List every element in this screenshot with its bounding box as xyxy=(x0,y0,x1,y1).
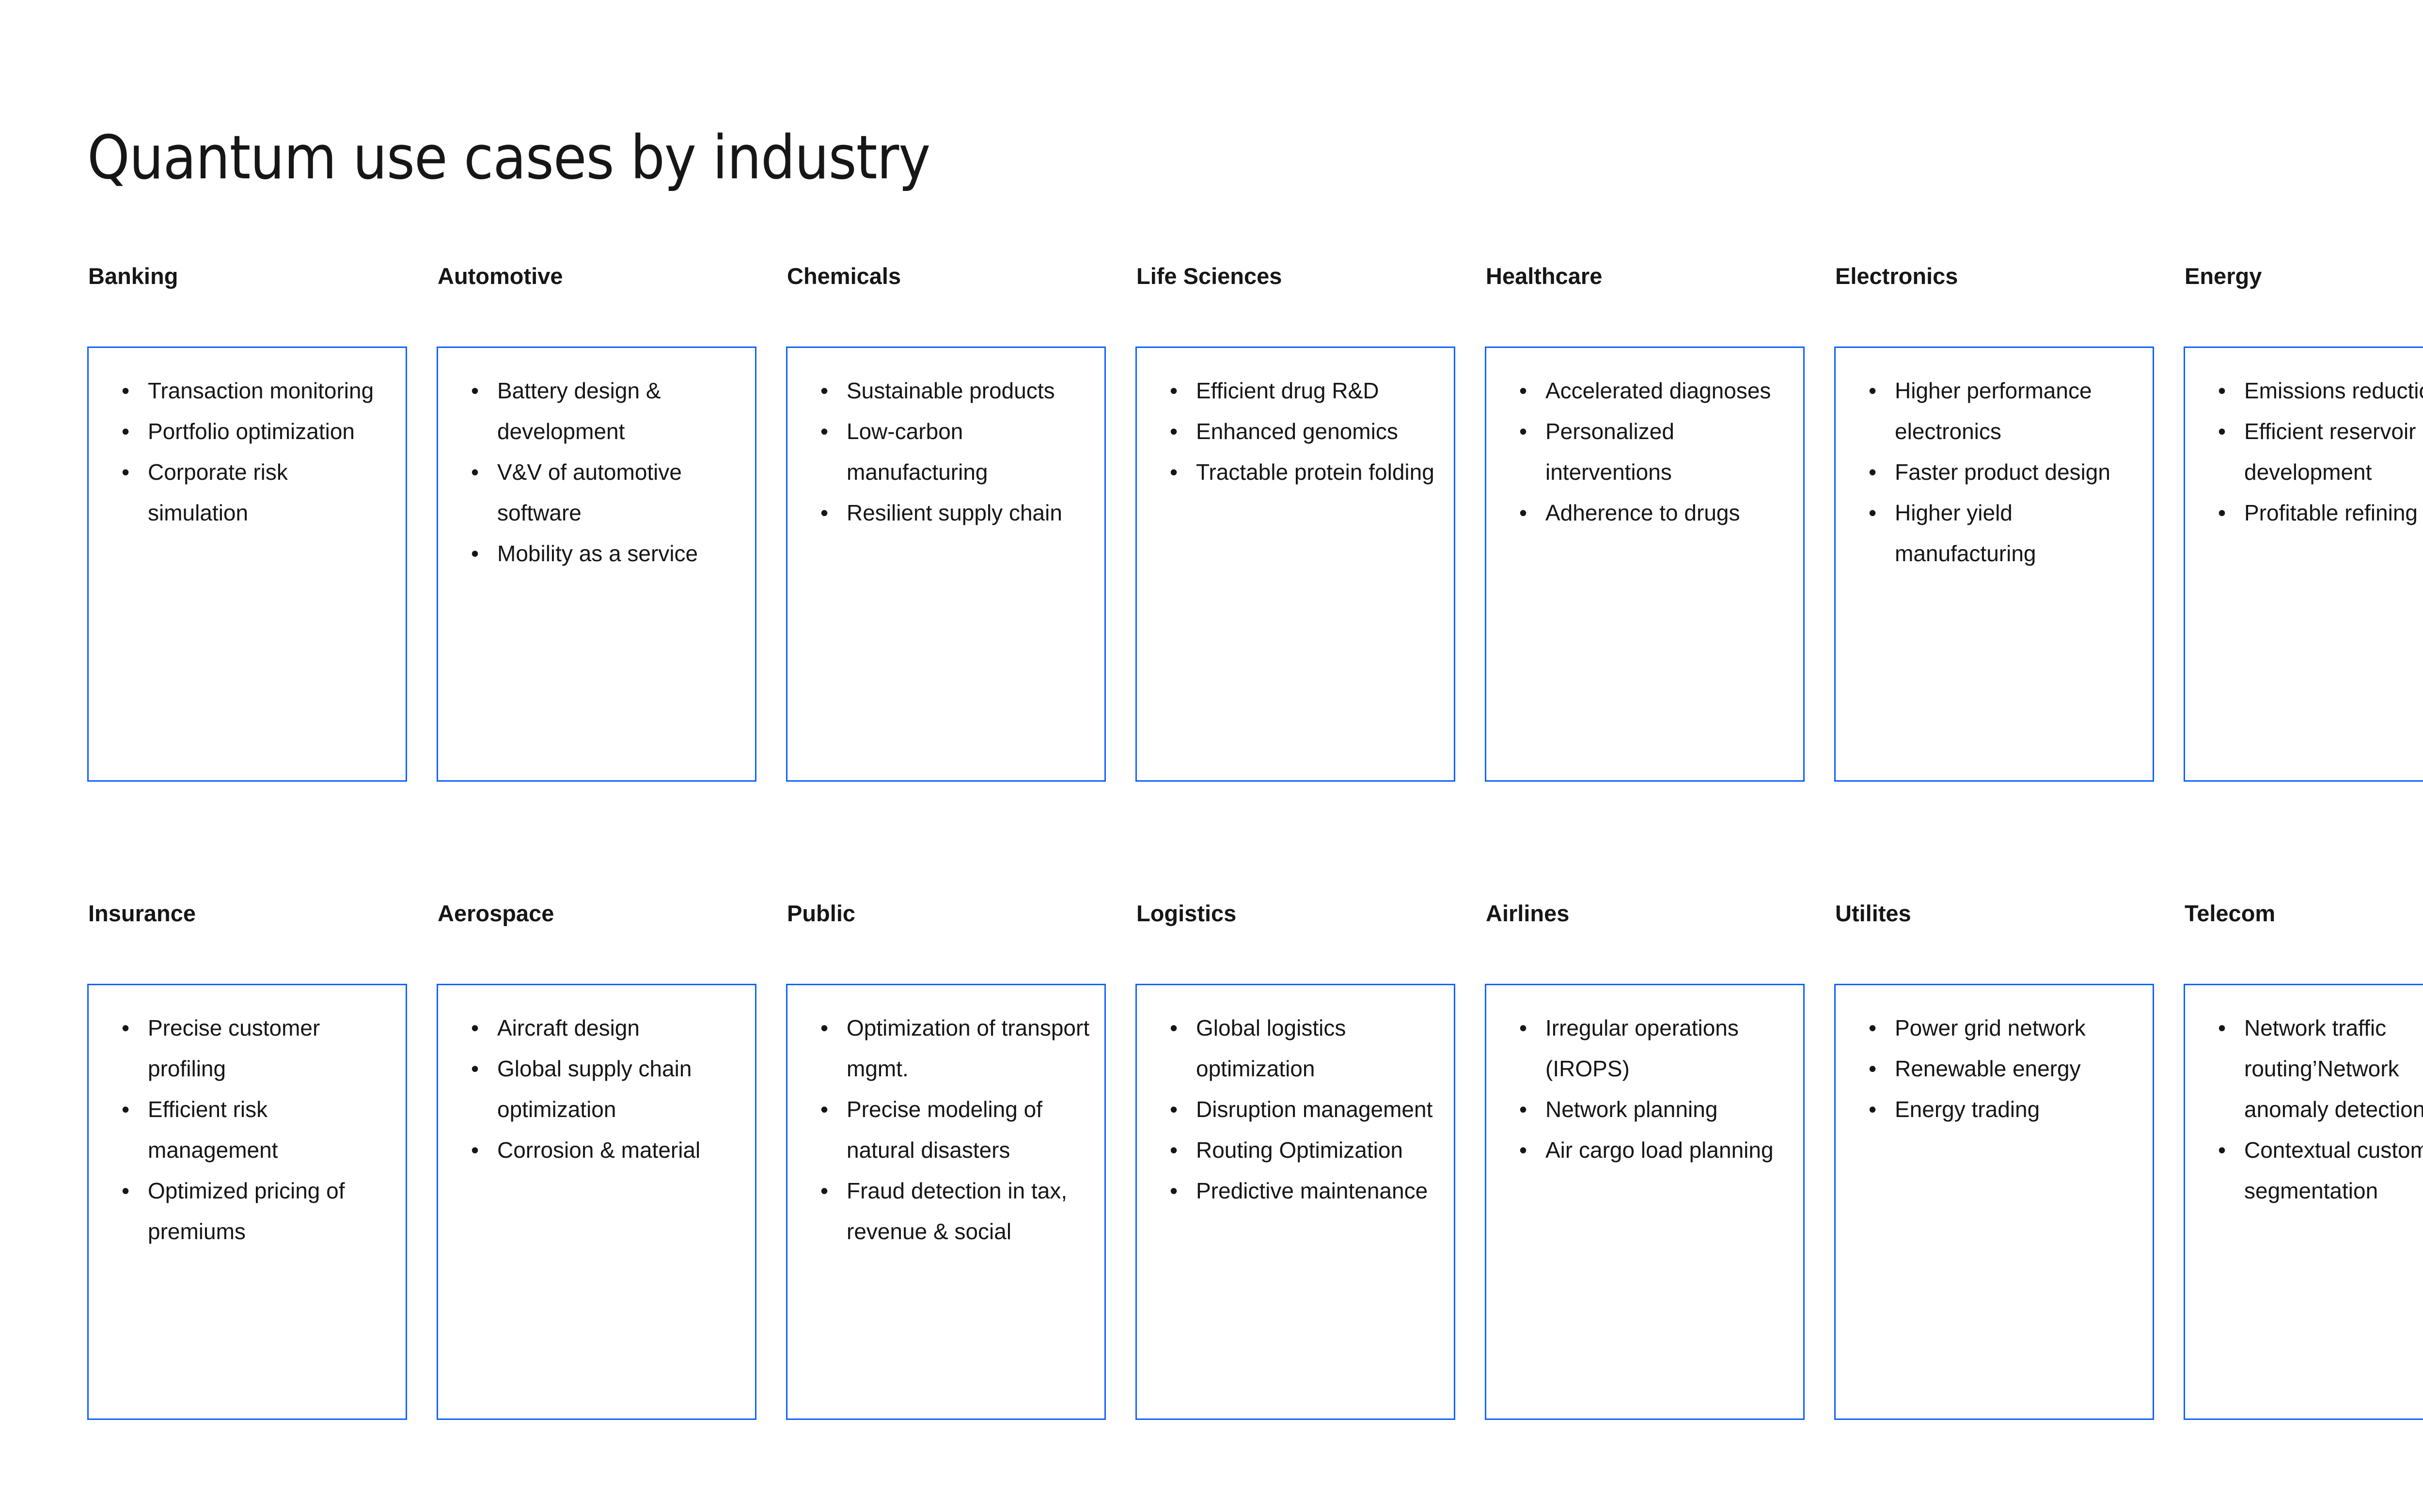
bullet-icon: • xyxy=(2218,492,2228,533)
use-case-item: •Aircraft design xyxy=(453,1008,740,1048)
industry-use-case-card: •Emissions reduction•Efficient reservoir… xyxy=(2184,346,2423,782)
industry-header: Electronics xyxy=(1835,262,2154,291)
industry-header: Aerospace xyxy=(438,899,756,928)
industry-use-case-card: •Power grid network•Renewable energy•Ene… xyxy=(1834,984,2154,1420)
bullet-icon: • xyxy=(820,1089,830,1130)
use-case-item: •Disruption management xyxy=(1151,1089,1439,1130)
use-case-list: •Accelerated diagnoses•Personalized inte… xyxy=(1501,370,1789,533)
use-case-label: Air cargo load planning xyxy=(1545,1137,1774,1163)
industry-cell: Airlines•Irregular operations (IROPS)•Ne… xyxy=(1485,899,1805,1420)
use-case-label: Network traffic routing’Network anomaly … xyxy=(2244,1015,2423,1122)
use-case-item: •Higher performance electronics xyxy=(1850,370,2138,452)
use-case-item: •Efficient risk management xyxy=(103,1089,391,1170)
use-case-item: •Faster product design xyxy=(1850,452,2138,492)
bullet-icon: • xyxy=(1869,1008,1878,1048)
industry-cell: Electronics•Higher performance electroni… xyxy=(1834,262,2154,782)
industry-use-case-card: •Global logistics optimization•Disruptio… xyxy=(1135,984,1455,1420)
bullet-icon: • xyxy=(1170,411,1180,452)
bullet-icon: • xyxy=(471,1008,481,1048)
use-case-label: Disruption management xyxy=(1196,1097,1432,1122)
bullet-icon: • xyxy=(471,1130,481,1170)
use-case-label: Precise modeling of natural disasters xyxy=(847,1097,1042,1163)
bullet-icon: • xyxy=(1869,492,1878,533)
use-case-label: Efficient drug R&D xyxy=(1196,378,1379,403)
use-case-label: Fraud detection in tax, revenue & social xyxy=(847,1178,1067,1244)
use-case-item: •Profitable refining xyxy=(2200,492,2423,533)
industry-use-case-card: •Aircraft design•Global supply chain opt… xyxy=(437,984,756,1420)
use-case-list: •Precise customer profiling•Efficient ri… xyxy=(103,1008,391,1252)
bullet-icon: • xyxy=(820,411,830,452)
use-case-item: •Battery design & development xyxy=(453,370,740,452)
use-case-item: •Tractable protein folding xyxy=(1151,452,1439,492)
use-case-label: Higher yield manufacturing xyxy=(1895,500,2036,566)
use-case-label: Global logistics optimization xyxy=(1196,1015,1346,1081)
use-case-list: •Network traffic routing’Network anomaly… xyxy=(2200,1008,2423,1211)
industry-use-case-card: •Battery design & development•V&V of aut… xyxy=(437,346,756,782)
use-case-label: Higher performance electronics xyxy=(1895,378,2092,444)
industry-header: Life Sciences xyxy=(1136,262,1455,291)
use-case-label: Sustainable products xyxy=(847,378,1055,403)
use-case-label: Efficient reservoir development xyxy=(2244,419,2416,485)
industry-header: Healthcare xyxy=(1486,262,1805,291)
industry-header: Public xyxy=(787,899,1106,928)
use-case-label: Resilient supply chain xyxy=(847,500,1062,525)
use-case-label: Portfolio optimization xyxy=(148,419,355,444)
industry-header: Banking xyxy=(88,262,407,291)
use-case-list: •Efficient drug R&D•Enhanced genomics•Tr… xyxy=(1151,370,1439,492)
bullet-icon: • xyxy=(471,533,481,574)
use-case-label: Transaction monitoring xyxy=(148,378,374,403)
industry-cell: Utilites•Power grid network•Renewable en… xyxy=(1834,899,2154,1420)
use-case-item: •Accelerated diagnoses xyxy=(1501,370,1789,411)
use-case-list: •Emissions reduction•Efficient reservoir… xyxy=(2200,370,2423,533)
bullet-icon: • xyxy=(122,370,131,411)
use-case-label: Aircraft design xyxy=(497,1015,640,1040)
use-case-label: Profitable refining xyxy=(2244,500,2418,525)
use-case-item: •Network planning xyxy=(1501,1089,1789,1130)
use-case-list: •Irregular operations (IROPS)•Network pl… xyxy=(1501,1008,1789,1170)
bullet-icon: • xyxy=(122,452,131,492)
use-case-label: Optimized pricing of premiums xyxy=(148,1178,345,1244)
bullet-icon: • xyxy=(2218,1130,2228,1170)
use-case-item: •Energy trading xyxy=(1850,1089,2138,1130)
use-case-item: •Precise modeling of natural disasters xyxy=(802,1089,1090,1170)
industry-use-case-card: •Efficient drug R&D•Enhanced genomics•Tr… xyxy=(1135,346,1455,782)
use-case-label: Efficient risk management xyxy=(148,1097,278,1163)
bullet-icon: • xyxy=(820,492,830,533)
bullet-icon: • xyxy=(1170,370,1180,411)
use-case-item: •Personalized interventions xyxy=(1501,411,1789,492)
industry-cell: Public•Optimization of transport mgmt.•P… xyxy=(786,899,1106,1420)
industry-header: Insurance xyxy=(88,899,407,928)
use-case-label: V&V of automotive software xyxy=(497,459,682,525)
use-case-label: Renewable energy xyxy=(1895,1056,2081,1081)
use-case-item: •Efficient reservoir development xyxy=(2200,411,2423,492)
use-case-list: •Higher performance electronics•Faster p… xyxy=(1850,370,2138,574)
use-case-label: Irregular operations (IROPS) xyxy=(1545,1015,1739,1081)
bullet-icon: • xyxy=(1519,1008,1529,1048)
use-case-item: •Enhanced genomics xyxy=(1151,411,1439,452)
bullet-icon: • xyxy=(122,1170,131,1211)
use-case-label: Enhanced genomics xyxy=(1196,419,1398,444)
industry-cell: Energy•Emissions reduction•Efficient res… xyxy=(2184,262,2423,782)
industry-cell: Aerospace•Aircraft design•Global supply … xyxy=(437,899,756,1420)
use-case-item: •Sustainable products xyxy=(802,370,1090,411)
bullet-icon: • xyxy=(1869,370,1878,411)
use-case-list: •Global logistics optimization•Disruptio… xyxy=(1151,1008,1439,1211)
use-case-item: •Mobility as a service xyxy=(453,533,740,574)
bullet-icon: • xyxy=(1869,1048,1878,1089)
use-case-item: •Renewable energy xyxy=(1850,1048,2138,1089)
use-case-item: •Transaction monitoring xyxy=(103,370,391,411)
use-case-item: •Optimized pricing of premiums xyxy=(103,1170,391,1252)
use-case-item: •Adherence to drugs xyxy=(1501,492,1789,533)
use-case-item: •Portfolio optimization xyxy=(103,411,391,452)
use-case-label: Global supply chain optimization xyxy=(497,1056,692,1122)
bullet-icon: • xyxy=(471,1048,481,1089)
bullet-icon: • xyxy=(2218,1008,2228,1048)
bullet-icon: • xyxy=(471,370,481,411)
use-case-label: Battery design & development xyxy=(497,378,661,444)
bullet-icon: • xyxy=(1519,1089,1529,1130)
use-case-item: •Routing Optimization xyxy=(1151,1130,1439,1170)
industry-grid: Banking•Transaction monitoring•Portfolio… xyxy=(87,262,2423,1420)
industry-use-case-card: •Accelerated diagnoses•Personalized inte… xyxy=(1485,346,1805,782)
bullet-icon: • xyxy=(1519,1130,1529,1170)
use-case-label: Emissions reduction xyxy=(2244,378,2423,403)
bullet-icon: • xyxy=(1869,452,1878,492)
bullet-icon: • xyxy=(1170,452,1180,492)
industry-header: Automotive xyxy=(438,262,756,291)
industry-cell: Insurance•Precise customer profiling•Eff… xyxy=(87,899,407,1420)
bullet-icon: • xyxy=(122,411,131,452)
industry-use-case-card: •Precise customer profiling•Efficient ri… xyxy=(87,984,407,1420)
industry-header: Airlines xyxy=(1486,899,1805,928)
bullet-icon: • xyxy=(122,1089,131,1130)
industry-use-case-card: •Transaction monitoring•Portfolio optimi… xyxy=(87,346,407,782)
use-case-label: Optimization of transport mgmt. xyxy=(847,1015,1089,1081)
industry-use-case-card: •Higher performance electronics•Faster p… xyxy=(1834,346,2154,782)
use-case-item: •Irregular operations (IROPS) xyxy=(1501,1008,1789,1089)
industry-cell: Logistics•Global logistics optimization•… xyxy=(1135,899,1455,1420)
industry-cell: Telecom•Network traffic routing’Network … xyxy=(2184,899,2423,1420)
use-case-label: Power grid network xyxy=(1895,1015,2086,1040)
bullet-icon: • xyxy=(471,452,481,492)
use-case-list: •Optimization of transport mgmt.•Precise… xyxy=(802,1008,1090,1252)
use-case-item: •Optimization of transport mgmt. xyxy=(802,1008,1090,1089)
use-case-list: •Sustainable products•Low-carbon manufac… xyxy=(802,370,1090,533)
use-case-label: Low-carbon manufacturing xyxy=(847,419,988,485)
use-case-label: Personalized interventions xyxy=(1545,419,1674,485)
use-case-item: •Higher yield manufacturing xyxy=(1850,492,2138,574)
industry-use-case-card: •Optimization of transport mgmt.•Precise… xyxy=(786,984,1106,1420)
use-case-label: Energy trading xyxy=(1895,1097,2040,1122)
bullet-icon: • xyxy=(1170,1089,1180,1130)
slide-canvas: Quantum use cases by industry Banking•Tr… xyxy=(0,0,2423,1512)
use-case-list: •Transaction monitoring•Portfolio optimi… xyxy=(103,370,391,533)
use-case-label: Corporate risk simulation xyxy=(148,459,288,525)
use-case-item: •Predictive maintenance xyxy=(1151,1170,1439,1211)
industry-header: Chemicals xyxy=(787,262,1106,291)
industry-use-case-card: •Network traffic routing’Network anomaly… xyxy=(2184,984,2423,1420)
bullet-icon: • xyxy=(1170,1170,1180,1211)
use-case-item: •Precise customer profiling xyxy=(103,1008,391,1089)
use-case-item: •Network traffic routing’Network anomaly… xyxy=(2200,1008,2423,1130)
bullet-icon: • xyxy=(820,370,830,411)
use-case-item: •Efficient drug R&D xyxy=(1151,370,1439,411)
bullet-icon: • xyxy=(820,1008,830,1048)
bullet-icon: • xyxy=(122,1008,131,1048)
use-case-label: Adherence to drugs xyxy=(1545,500,1740,525)
bullet-icon: • xyxy=(1519,492,1529,533)
bullet-icon: • xyxy=(1869,1089,1878,1130)
use-case-label: Mobility as a service xyxy=(497,541,698,566)
industry-cell: Automotive•Battery design & development•… xyxy=(437,262,756,782)
industry-header: Energy xyxy=(2185,262,2423,291)
use-case-item: •Fraud detection in tax, revenue & socia… xyxy=(802,1170,1090,1252)
use-case-item: •Global logistics optimization xyxy=(1151,1008,1439,1089)
use-case-item: •Corrosion & material xyxy=(453,1130,740,1170)
use-case-label: Accelerated diagnoses xyxy=(1545,378,1771,403)
bullet-icon: • xyxy=(1170,1008,1180,1048)
use-case-item: •Low-carbon manufacturing xyxy=(802,411,1090,492)
industry-cell: Healthcare•Accelerated diagnoses•Persona… xyxy=(1485,262,1805,782)
bullet-icon: • xyxy=(1519,411,1529,452)
use-case-label: Predictive maintenance xyxy=(1196,1178,1428,1203)
industry-cell: Banking•Transaction monitoring•Portfolio… xyxy=(87,262,407,782)
use-case-label: Precise customer profiling xyxy=(148,1015,320,1081)
bullet-icon: • xyxy=(2218,370,2228,411)
use-case-label: Tractable protein folding xyxy=(1196,459,1434,485)
page-title: Quantum use cases by industry xyxy=(87,122,930,194)
use-case-item: •Corporate risk simulation xyxy=(103,452,391,533)
industry-cell: Life Sciences•Efficient drug R&D•Enhance… xyxy=(1135,262,1455,782)
use-case-item: •Global supply chain optimization xyxy=(453,1048,740,1130)
use-case-item: •Resilient supply chain xyxy=(802,492,1090,533)
use-case-item: •Power grid network xyxy=(1850,1008,2138,1048)
bullet-icon: • xyxy=(1519,370,1529,411)
use-case-label: Faster product design xyxy=(1895,459,2110,485)
bullet-icon: • xyxy=(2218,411,2228,452)
use-case-list: •Battery design & development•V&V of aut… xyxy=(453,370,740,574)
use-case-label: Corrosion & material xyxy=(497,1137,700,1163)
use-case-label: Network planning xyxy=(1545,1097,1717,1122)
industry-use-case-card: •Sustainable products•Low-carbon manufac… xyxy=(786,346,1106,782)
use-case-list: •Power grid network•Renewable energy•Ene… xyxy=(1850,1008,2138,1130)
industry-header: Utilites xyxy=(1835,899,2154,928)
use-case-label: Routing Optimization xyxy=(1196,1137,1403,1163)
industry-use-case-card: •Irregular operations (IROPS)•Network pl… xyxy=(1485,984,1805,1420)
bullet-icon: • xyxy=(1170,1130,1180,1170)
use-case-item: •Air cargo load planning xyxy=(1501,1130,1789,1170)
use-case-list: •Aircraft design•Global supply chain opt… xyxy=(453,1008,740,1170)
bullet-icon: • xyxy=(820,1170,830,1211)
industry-header: Logistics xyxy=(1136,899,1455,928)
use-case-item: •Contextual customer segmentation xyxy=(2200,1130,2423,1211)
use-case-label: Contextual customer segmentation xyxy=(2244,1137,2423,1203)
industry-cell: Chemicals•Sustainable products•Low-carbo… xyxy=(786,262,1106,782)
use-case-item: •Emissions reduction xyxy=(2200,370,2423,411)
industry-header: Telecom xyxy=(2185,899,2423,928)
use-case-item: •V&V of automotive software xyxy=(453,452,740,533)
